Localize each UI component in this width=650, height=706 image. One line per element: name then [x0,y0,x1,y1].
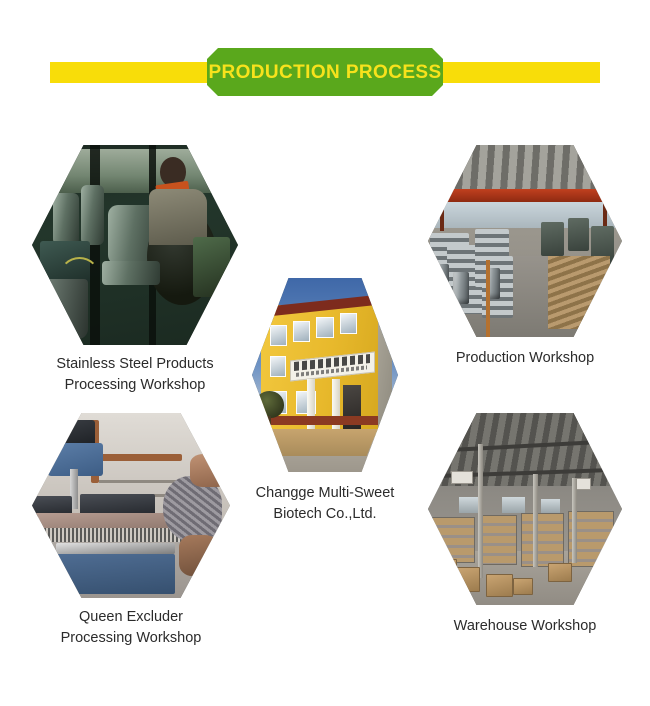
scene-production-workshop [428,145,622,337]
gallery-item-queen-excluder[interactable]: Queen Excluder Processing Workshop [32,413,230,649]
cardboard-carton [486,574,513,597]
stacked-crates [548,256,610,329]
caption-company-building: Changge Multi-Sweet Biotech Co.,Ltd. [252,483,398,525]
wall-pipe [91,454,182,461]
building-entrance-door [343,385,362,435]
building-window [316,317,334,338]
machine-rail [56,543,175,554]
hex-image-stainless-steel[interactable] [32,145,238,345]
machine-base [52,554,175,595]
scene-stainless-steel-workshop [32,145,238,345]
support-post [486,260,490,337]
scene-office-building [252,278,398,472]
page-header-banner: PRODUCTION PROCESS [0,48,650,96]
tree-trunk [268,416,271,433]
control-box [193,237,230,297]
building-window [293,321,311,342]
decorative-tree [255,391,284,434]
caption-production-workshop: Production Workshop [428,348,622,369]
metal-cylinder [453,272,469,305]
cardboard-carton [513,578,532,595]
page-title: PRODUCTION PROCESS [208,63,441,82]
warehouse-window [541,499,560,512]
caption-stainless-steel: Stainless Steel Products Processing Work… [32,354,238,396]
cardboard-carton [548,563,571,582]
steel-tank [81,185,104,245]
workshop-window [48,149,221,193]
storage-shelf [432,517,475,563]
steel-tank [102,261,160,285]
gallery-item-company-building[interactable]: Changge Multi-Sweet Biotech Co.,Ltd. [252,278,398,525]
banner-green-badge: PRODUCTION PROCESS [207,48,443,96]
excluder-mesh [40,528,187,543]
worker-arm [179,535,223,576]
gallery-item-stainless-steel[interactable]: Stainless Steel Products Processing Work… [32,145,238,396]
gallery-item-production-workshop[interactable]: Production Workshop [428,145,622,369]
machine-unit [568,218,589,251]
hex-image-production-workshop[interactable] [428,145,622,337]
hex-image-company-building[interactable] [252,278,398,472]
warehouse-column [533,474,538,566]
hex-image-warehouse[interactable] [428,413,622,605]
storage-shelf [521,513,564,567]
gallery-item-warehouse[interactable]: Warehouse Workshop [428,413,622,637]
scene-warehouse-workshop [428,413,622,605]
caption-queen-excluder: Queen Excluder Processing Workshop [32,607,230,649]
building-window [270,356,286,377]
caption-warehouse: Warehouse Workshop [428,616,622,637]
building-window [270,325,288,346]
warehouse-column [572,478,577,562]
crane-leg [440,189,445,231]
metal-cylinder [434,264,450,297]
building-window [340,313,358,334]
warehouse-column [478,444,483,578]
cardboard-carton [436,559,457,580]
tree-crown [255,391,284,419]
metal-drum [46,279,87,339]
overhead-crane [436,189,615,201]
machine-unit [541,222,564,257]
wall-sign [575,478,591,490]
cardboard-carton [455,567,480,592]
warehouse-window [502,497,525,512]
scene-queen-excluder-workshop [32,413,230,598]
workshop-beam [90,145,100,345]
entrance-ramp [261,429,377,456]
storage-shelf [478,515,517,565]
hex-image-queen-excluder[interactable] [32,413,230,598]
worker-arm [190,454,230,487]
wall-sign [451,471,472,484]
steel-tank [53,193,80,245]
